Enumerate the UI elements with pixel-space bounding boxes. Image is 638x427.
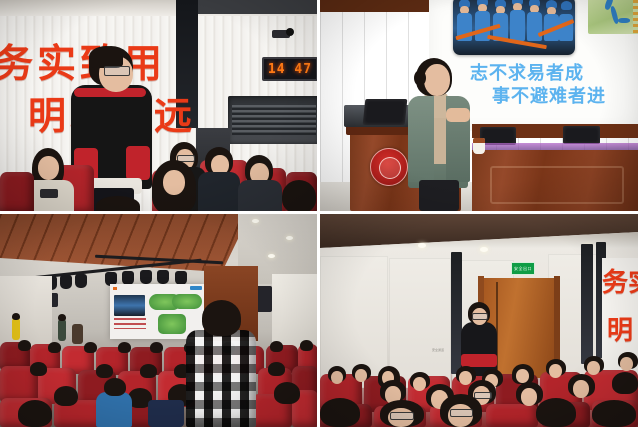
audience-head xyxy=(54,386,78,406)
slide-corner-tab xyxy=(113,287,117,290)
stage-light xyxy=(122,271,134,285)
audience-head xyxy=(274,382,300,404)
hall-left-wall xyxy=(0,276,52,348)
audience-glasses xyxy=(474,392,492,399)
person-standing xyxy=(58,319,66,341)
photo-panel-top-right: 志不求易者成 事不避难者进 xyxy=(320,0,638,211)
phone-in-hands xyxy=(40,189,58,198)
standing-student-sleeve-right xyxy=(126,146,150,180)
slide-logo xyxy=(190,286,202,290)
seated-person-face xyxy=(163,170,185,195)
loudspeaker xyxy=(256,286,272,312)
ceiling-downlight xyxy=(286,236,293,240)
collage-horizontal-divider xyxy=(0,211,638,214)
laptop xyxy=(363,99,408,125)
audience-head xyxy=(96,364,113,378)
seated-person-face xyxy=(38,156,59,180)
standing-student-glasses xyxy=(104,66,130,76)
seated-person-hair xyxy=(282,180,316,211)
audience-face xyxy=(459,371,472,385)
standing-student-glasses xyxy=(472,313,488,320)
audience-head-foreground xyxy=(592,400,636,427)
speaker-trousers xyxy=(419,180,459,211)
audience-glasses xyxy=(450,409,473,417)
audience-head xyxy=(18,340,31,351)
audience-face xyxy=(587,361,600,375)
audience-face xyxy=(516,369,529,383)
monitor-screen xyxy=(563,126,600,144)
exit-sign-label: 安全出口 xyxy=(514,266,532,272)
wall-small-label: 安全通道 xyxy=(432,348,444,352)
audience-face xyxy=(549,364,562,378)
slide-photo-workers xyxy=(453,0,575,55)
stage-light xyxy=(175,271,187,285)
emergency-exit-sign: 安全出口 xyxy=(511,262,535,275)
audience-head xyxy=(150,342,163,353)
audience-head-foreground xyxy=(320,398,360,427)
coffee-cup xyxy=(473,138,485,154)
slide-text-line-2: 事不避难者进 xyxy=(492,82,606,108)
audience-head xyxy=(48,342,61,353)
wall-panel xyxy=(389,258,451,388)
audience-face xyxy=(355,369,367,382)
stage-light xyxy=(140,270,152,284)
slide-caption-text xyxy=(114,318,146,329)
desk-led-strip xyxy=(472,143,638,150)
wall-slogan-line-2: 明 xyxy=(607,310,637,347)
audience-head xyxy=(300,340,313,351)
audience-head-foreground xyxy=(18,400,52,427)
audience-head xyxy=(104,378,126,396)
wall-slogan-line-1: 务实致用 xyxy=(0,33,166,89)
audience-face xyxy=(620,357,633,371)
photo-panel-bottom-right: 安全通道 安全出口 务实 明 xyxy=(320,214,638,427)
slide-map-graphic xyxy=(588,0,638,34)
wall-slogan-line-1: 务实 xyxy=(602,262,638,299)
foreground-person-head xyxy=(96,196,140,211)
audience-face xyxy=(331,371,343,384)
desk-panel-trim xyxy=(490,166,624,204)
man-in-plaid-head xyxy=(202,300,241,336)
photo-panel-bottom-left xyxy=(0,214,317,427)
ceiling-dark-band xyxy=(198,0,317,14)
speaker-hands xyxy=(446,108,470,122)
photo-collage: 14 47 务实致用 明理致远 xyxy=(0,0,638,427)
audience-head xyxy=(268,362,285,376)
audience-face xyxy=(521,388,537,406)
seated-person-torso xyxy=(198,172,240,211)
theater-seat xyxy=(0,172,34,211)
speaker-column xyxy=(581,244,593,364)
theater-seat xyxy=(486,404,538,427)
stage-light xyxy=(60,275,72,289)
slide-green-emblem xyxy=(158,314,186,334)
speaker-hair-bun xyxy=(414,70,426,86)
audience-head xyxy=(118,342,131,353)
person-head xyxy=(58,314,66,321)
stage-light xyxy=(157,270,169,284)
podium-university-emblem xyxy=(370,148,408,186)
audience-bag xyxy=(148,400,184,427)
slide-photo-workers xyxy=(114,295,145,316)
person-head xyxy=(12,313,20,320)
man-in-plaid-shirt xyxy=(186,330,256,427)
speaker-lapel-left xyxy=(408,96,434,182)
audience-head xyxy=(140,364,157,378)
clock-time-display: 14 47 xyxy=(268,62,312,77)
audience-head xyxy=(612,372,638,394)
audience-glasses xyxy=(390,412,414,420)
seated-person-torso xyxy=(238,180,282,211)
audience-head xyxy=(270,341,283,352)
person-yellow-jacket xyxy=(12,318,20,340)
audience-head-foreground xyxy=(536,398,576,427)
digital-wall-clock: 14 47 xyxy=(262,57,317,81)
ceiling-vent-grille xyxy=(228,96,317,144)
audience-face xyxy=(413,377,426,391)
ceiling-downlight xyxy=(480,247,488,252)
emblem-inner-ring xyxy=(379,157,401,179)
speaker-face xyxy=(424,64,450,96)
audience-face xyxy=(573,380,589,398)
stage-light xyxy=(75,274,87,288)
ceiling-downlight xyxy=(268,254,275,258)
audience-head xyxy=(30,362,47,376)
slide-green-graphic xyxy=(172,294,202,309)
ceiling-downlight xyxy=(418,243,426,248)
person-standing xyxy=(72,324,83,344)
standing-student-fringe xyxy=(89,46,123,68)
audience-head xyxy=(84,342,97,353)
audience-person-blue xyxy=(96,392,132,427)
security-camera-lens-icon xyxy=(286,28,294,36)
ceiling-downlight xyxy=(252,219,259,223)
photo-panel-top-left: 14 47 务实致用 明理致远 xyxy=(0,0,317,211)
